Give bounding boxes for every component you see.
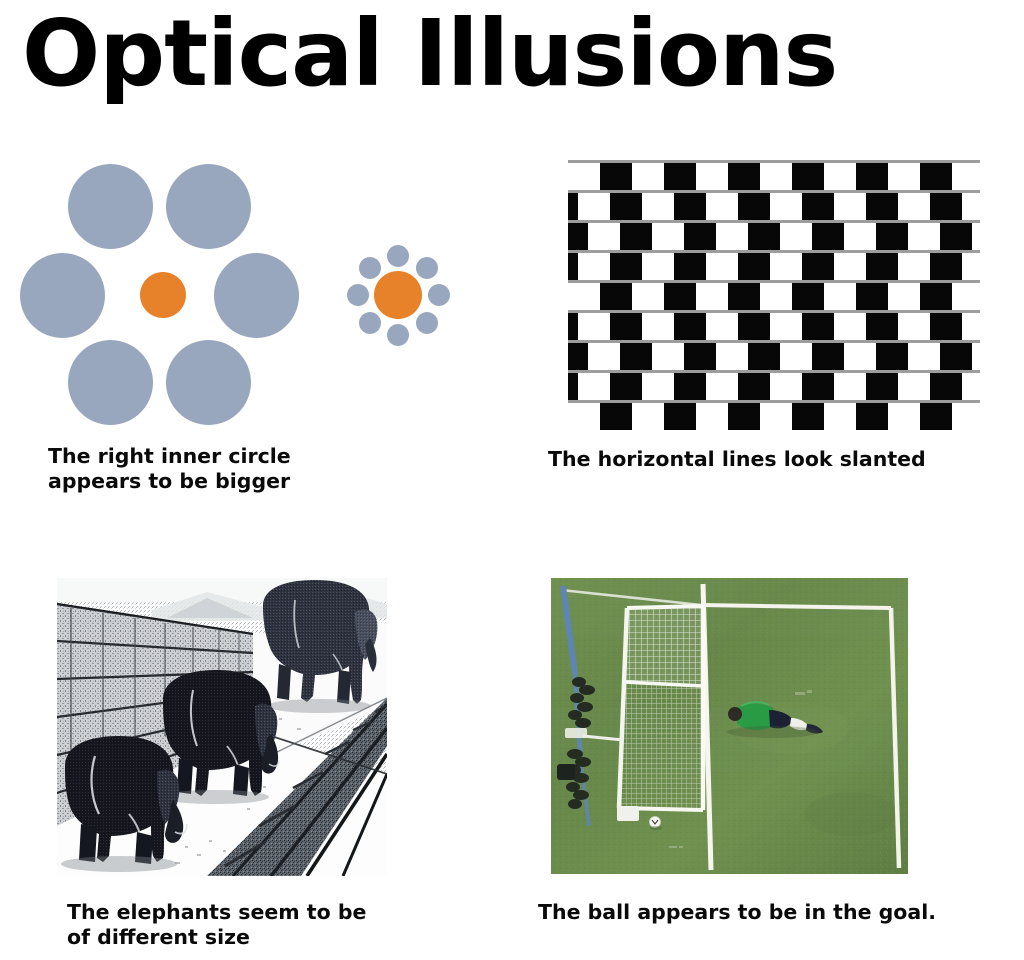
- cafe-wall-tile: [748, 223, 780, 250]
- cafe-wall-tile: [802, 193, 834, 220]
- cafe-wall-tile: [568, 313, 578, 340]
- cafe-wall-tile: [674, 373, 706, 400]
- cafe-wall-tile: [930, 193, 962, 220]
- cafe-wall-tile: [930, 253, 962, 280]
- cafe-wall-tile: [792, 283, 824, 310]
- cafe-wall-tile: [664, 403, 696, 430]
- net-weight: [565, 728, 587, 738]
- cafe-wall-tile: [866, 193, 898, 220]
- cafe-wall-tile: [856, 403, 888, 430]
- cafe-wall-tile: [610, 373, 642, 400]
- cafe-wall-tile: [600, 163, 632, 190]
- cafe-wall-tile: [664, 283, 696, 310]
- cafe-wall-tile: [664, 163, 696, 190]
- cafe-wall-tile: [792, 163, 824, 190]
- context-circle-large: [68, 164, 153, 249]
- cafe-wall-row: [568, 310, 980, 340]
- cafe-wall-tile: [866, 313, 898, 340]
- cafe-wall-tile: [748, 343, 780, 370]
- cafe-wall-tile: [620, 343, 652, 370]
- cafe-wall-row: [568, 190, 980, 220]
- cafe-wall-row: [568, 400, 980, 430]
- context-circle-small: [359, 257, 381, 279]
- cafe-wall-tile: [738, 373, 770, 400]
- cafe-wall-tile: [812, 343, 844, 370]
- cafe-wall-tile: [876, 343, 908, 370]
- cafe-wall-tile: [738, 313, 770, 340]
- cafe-wall-tile: [674, 313, 706, 340]
- cafe-wall-tile: [802, 253, 834, 280]
- net-weight: [617, 806, 639, 821]
- cafe-wall-tile: [610, 253, 642, 280]
- cafe-wall-tile: [600, 283, 632, 310]
- context-circle-large: [68, 340, 153, 425]
- ebbinghaus-illusion-figure: [0, 150, 500, 440]
- cafe-wall-tile: [802, 373, 834, 400]
- context-circle-small: [387, 245, 409, 267]
- cafe-wall-tile: [620, 223, 652, 250]
- cafe-wall-tile: [610, 193, 642, 220]
- cafe-wall-tile: [802, 313, 834, 340]
- cafe-wall-tile: [920, 163, 952, 190]
- cafe-wall-tile: [674, 193, 706, 220]
- cafe-wall-tile: [792, 403, 824, 430]
- cafe-wall-tile: [728, 403, 760, 430]
- cafe-wall-row: [568, 370, 980, 400]
- context-circle-small: [359, 312, 381, 334]
- caption-goal: The ball appears to be in the goal.: [538, 900, 998, 925]
- cafe-wall-tile: [728, 283, 760, 310]
- cafe-wall-tile: [866, 253, 898, 280]
- inner-circle-right: [374, 271, 422, 319]
- context-circle-large: [166, 164, 251, 249]
- cafe-wall-tile: [610, 313, 642, 340]
- cafe-wall-tile: [568, 343, 588, 370]
- cafe-wall-tile: [738, 253, 770, 280]
- ponzo-elephants-illusion-figure: [57, 578, 387, 876]
- context-circle-small: [428, 284, 450, 306]
- cafe-wall-tile: [856, 163, 888, 190]
- cafe-wall-tile: [920, 283, 952, 310]
- context-circle-large: [20, 253, 105, 338]
- cafe-wall-tile: [568, 223, 588, 250]
- cafe-wall-tile: [600, 403, 632, 430]
- cafe-wall-tile: [930, 373, 962, 400]
- cafe-wall-tile: [738, 193, 770, 220]
- cafe-wall-tile: [812, 223, 844, 250]
- cafe-wall-tile: [920, 403, 952, 430]
- context-circle-small: [387, 324, 409, 346]
- context-circle-large: [166, 340, 251, 425]
- cafe-wall-tile: [568, 373, 578, 400]
- cafe-wall-tile: [940, 223, 972, 250]
- cafe-wall-tile: [856, 283, 888, 310]
- cafe-wall-tile: [684, 223, 716, 250]
- caption-elephants: The elephants seem to be of different si…: [67, 900, 427, 950]
- cafe-wall-tile: [866, 373, 898, 400]
- context-circle-small: [416, 257, 438, 279]
- cafe-wall-tile: [568, 253, 578, 280]
- cafe-wall-tile: [568, 193, 578, 220]
- context-circle-small: [416, 312, 438, 334]
- caption-cafewall: The horizontal lines look slanted: [548, 447, 998, 472]
- context-circle-large: [214, 253, 299, 338]
- cafe-wall-row: [568, 250, 980, 280]
- cafe-wall-row: [568, 280, 980, 310]
- context-circle-small: [347, 284, 369, 306]
- cafe-wall-tile: [930, 313, 962, 340]
- cafe-wall-illusion-figure: [568, 160, 980, 430]
- cafe-wall-tile: [728, 163, 760, 190]
- cafe-wall-tile: [674, 253, 706, 280]
- cafe-wall-tile: [876, 223, 908, 250]
- soccer-goal-illusion-figure: [551, 578, 908, 874]
- page-title: Optical Illusions: [22, 4, 1002, 104]
- inner-circle-left: [140, 272, 186, 318]
- cafe-wall-row: [568, 160, 980, 190]
- cafe-wall-row: [568, 220, 980, 250]
- cafe-wall-row: [568, 340, 980, 370]
- caption-ebbinghaus: The right inner circle appears to be big…: [48, 444, 378, 494]
- cafe-wall-tile: [940, 343, 972, 370]
- cafe-wall-tile: [684, 343, 716, 370]
